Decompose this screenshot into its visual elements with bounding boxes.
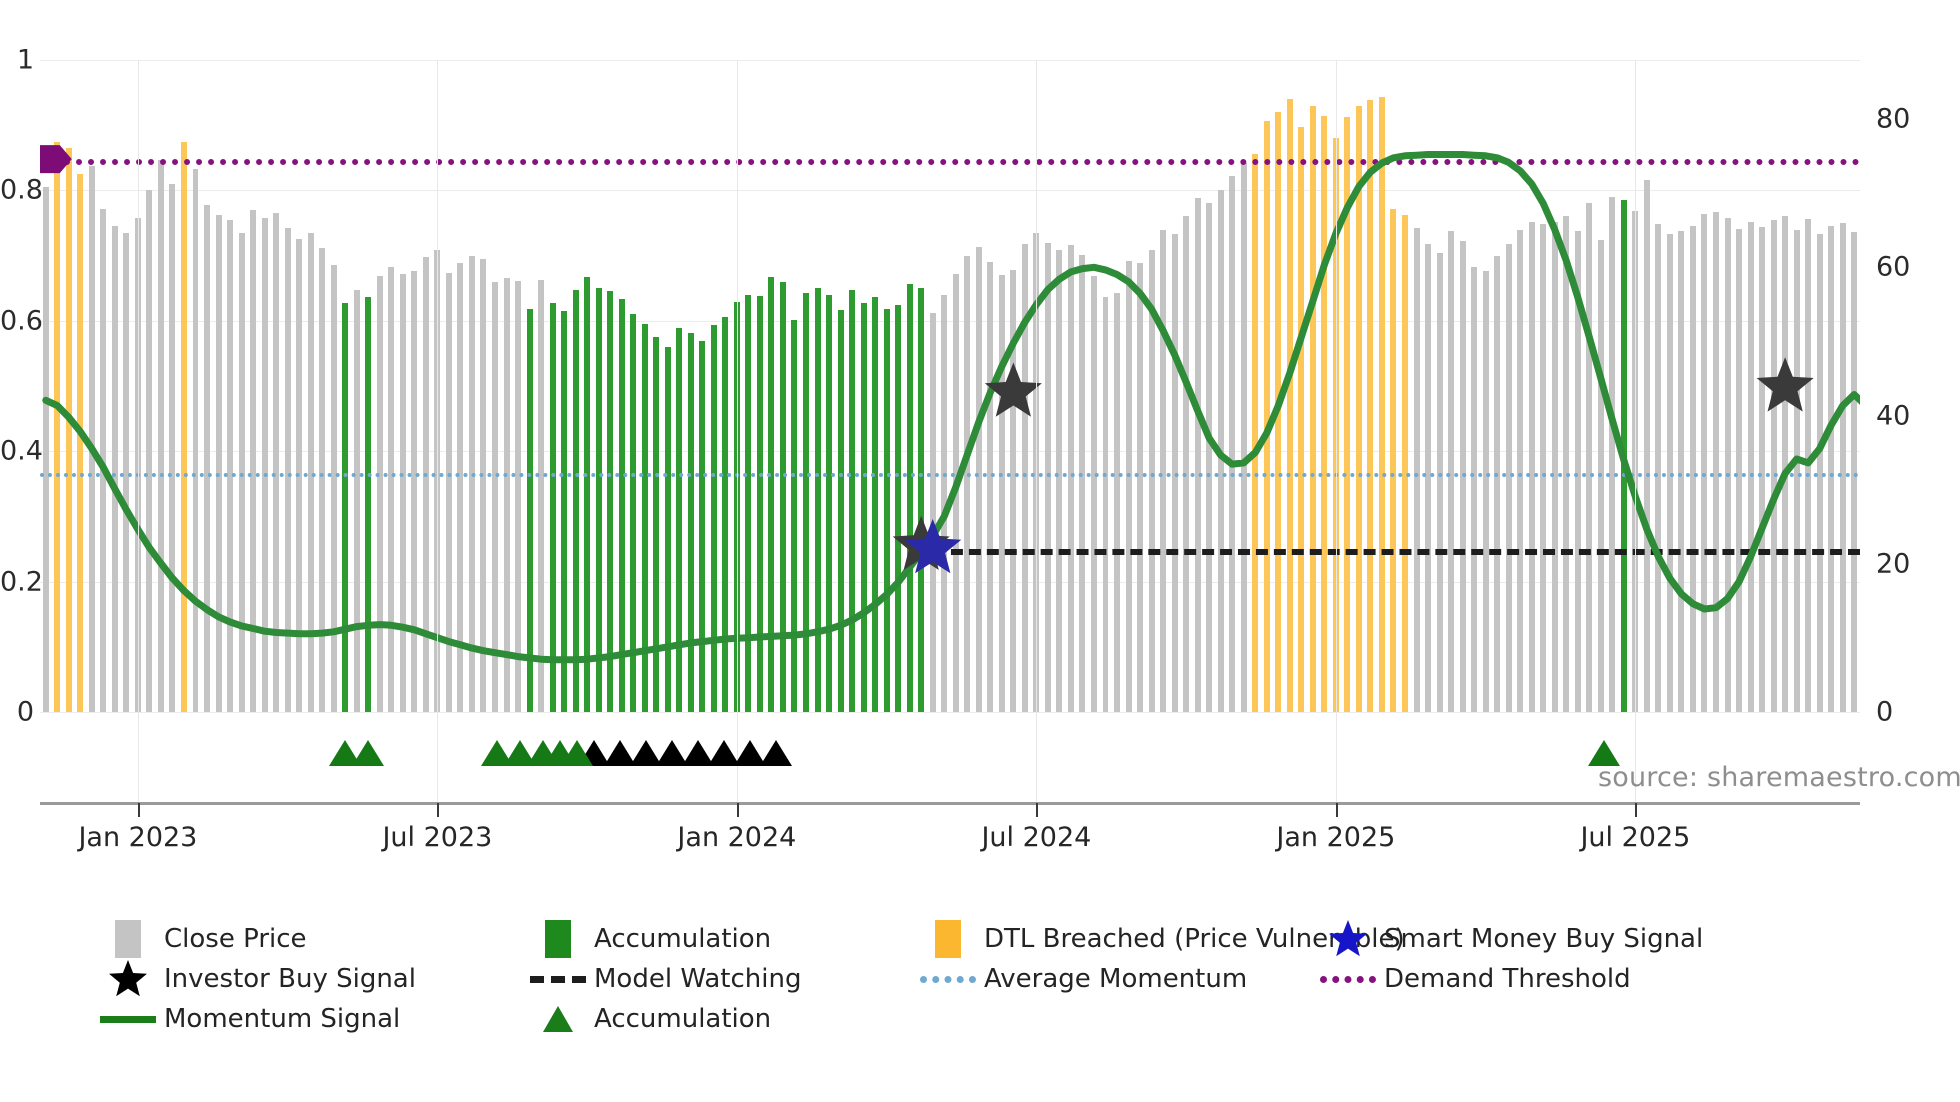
y-axis-right-tick-label: 60: [1876, 252, 1936, 283]
gridline: [40, 712, 1860, 713]
legend-item[interactable]: Demand Threshold: [1312, 964, 1712, 994]
marker-layer: [40, 60, 1860, 712]
legend-item[interactable]: Close Price: [92, 920, 522, 958]
y-axis-left-tick-label: 0.6: [0, 305, 34, 336]
x-gridline: [1036, 60, 1037, 802]
x-axis-tick-label: Jan 2025: [1276, 822, 1395, 853]
swatch-blue-star-icon: [1312, 917, 1384, 961]
legend-item-label: Accumulation: [594, 1004, 771, 1034]
swatch-green-line-icon: [92, 1016, 164, 1023]
swatch-blue-dot-icon: [912, 976, 984, 983]
legend-item-label: Smart Money Buy Signal: [1384, 924, 1703, 954]
swatch-black-star-icon: [92, 957, 164, 1001]
x-gridline: [437, 60, 438, 802]
x-axis-tick: [1336, 803, 1338, 817]
swatch-black-dash-icon: [522, 976, 594, 983]
legend-item[interactable]: Accumulation: [522, 920, 912, 958]
x-gridline: [1336, 60, 1337, 802]
y-axis-left-tick-label: 1: [0, 45, 34, 76]
y-axis-left-tick-label: 0: [0, 697, 34, 728]
y-axis-left-tick-label: 0.8: [0, 175, 34, 206]
legend-item[interactable]: Investor Buy Signal: [92, 957, 522, 1001]
x-axis-tick-label: Jan 2023: [78, 822, 197, 853]
signal-markers: [40, 60, 1860, 712]
y-axis-left-tick-label: 0.2: [0, 566, 34, 597]
x-axis-tick: [737, 803, 739, 817]
x-gridline: [1635, 60, 1636, 802]
accumulation-triangle-marker: [760, 740, 792, 766]
demand-threshold-start-hexagon: [40, 145, 72, 173]
x-axis-line: [40, 802, 1860, 805]
legend-item-label: Average Momentum: [984, 964, 1247, 994]
legend-item[interactable]: Accumulation: [522, 1004, 912, 1034]
x-axis-tick: [138, 803, 140, 817]
legend-row: Momentum SignalAccumulation: [92, 1000, 1872, 1038]
x-axis-tick-label: Jan 2024: [677, 822, 796, 853]
legend-item[interactable]: Model Watching: [522, 964, 912, 994]
investor-buy-signal-star: [985, 363, 1042, 417]
y-axis-right-tick-label: 0: [1876, 697, 1936, 728]
x-axis-tick: [437, 803, 439, 817]
swatch-green-rect-icon: [522, 920, 594, 958]
x-axis-tick-label: Jul 2024: [981, 822, 1091, 853]
y-axis-right-tick-label: 40: [1876, 400, 1936, 431]
swatch-orange-rect-icon: [912, 920, 984, 958]
legend-item[interactable]: Momentum Signal: [92, 1004, 522, 1034]
legend-item[interactable]: Average Momentum: [912, 964, 1312, 994]
x-axis-tick: [1635, 803, 1637, 817]
x-axis-tick-label: Jul 2025: [1580, 822, 1690, 853]
x-gridline: [737, 60, 738, 802]
swatch-green-tri-icon: [522, 1006, 594, 1032]
plot-area: [40, 60, 1860, 712]
legend-item[interactable]: DTL Breached (Price Vulnerable): [912, 920, 1312, 958]
accumulation-triangle-marker: [352, 740, 384, 766]
legend-item-label: Momentum Signal: [164, 1004, 400, 1034]
legend-row: Close PriceAccumulationDTL Breached (Pri…: [92, 920, 1872, 958]
investor-buy-signal-star: [1757, 357, 1814, 411]
legend-row: Investor Buy SignalModel WatchingAverage…: [92, 960, 1872, 998]
y-axis-left-tick-label: 0.4: [0, 436, 34, 467]
chart-legend: Close PriceAccumulationDTL Breached (Pri…: [92, 920, 1872, 1040]
legend-item-label: Demand Threshold: [1384, 964, 1631, 994]
legend-item-label: Accumulation: [594, 924, 771, 954]
accumulation-triangle-marker: [561, 740, 593, 766]
legend-item-label: Model Watching: [594, 964, 801, 994]
x-axis-tick-label: Jul 2023: [382, 822, 492, 853]
x-axis-tick: [1036, 803, 1038, 817]
y-axis-right-tick-label: 20: [1876, 548, 1936, 579]
legend-item[interactable]: Smart Money Buy Signal: [1312, 917, 1712, 961]
swatch-grey-rect-icon: [92, 920, 164, 958]
source-attribution: source: sharemaestro.com: [1598, 762, 1960, 793]
x-gridline: [138, 60, 139, 802]
swatch-purple-dot-icon: [1312, 976, 1384, 983]
legend-item-label: Close Price: [164, 924, 307, 954]
chart-canvas: 00.20.40.60.81 020406080 Jan 2023Jul 202…: [0, 0, 1960, 1102]
y-axis-right-tick-label: 80: [1876, 104, 1936, 135]
legend-item-label: Investor Buy Signal: [164, 964, 416, 994]
